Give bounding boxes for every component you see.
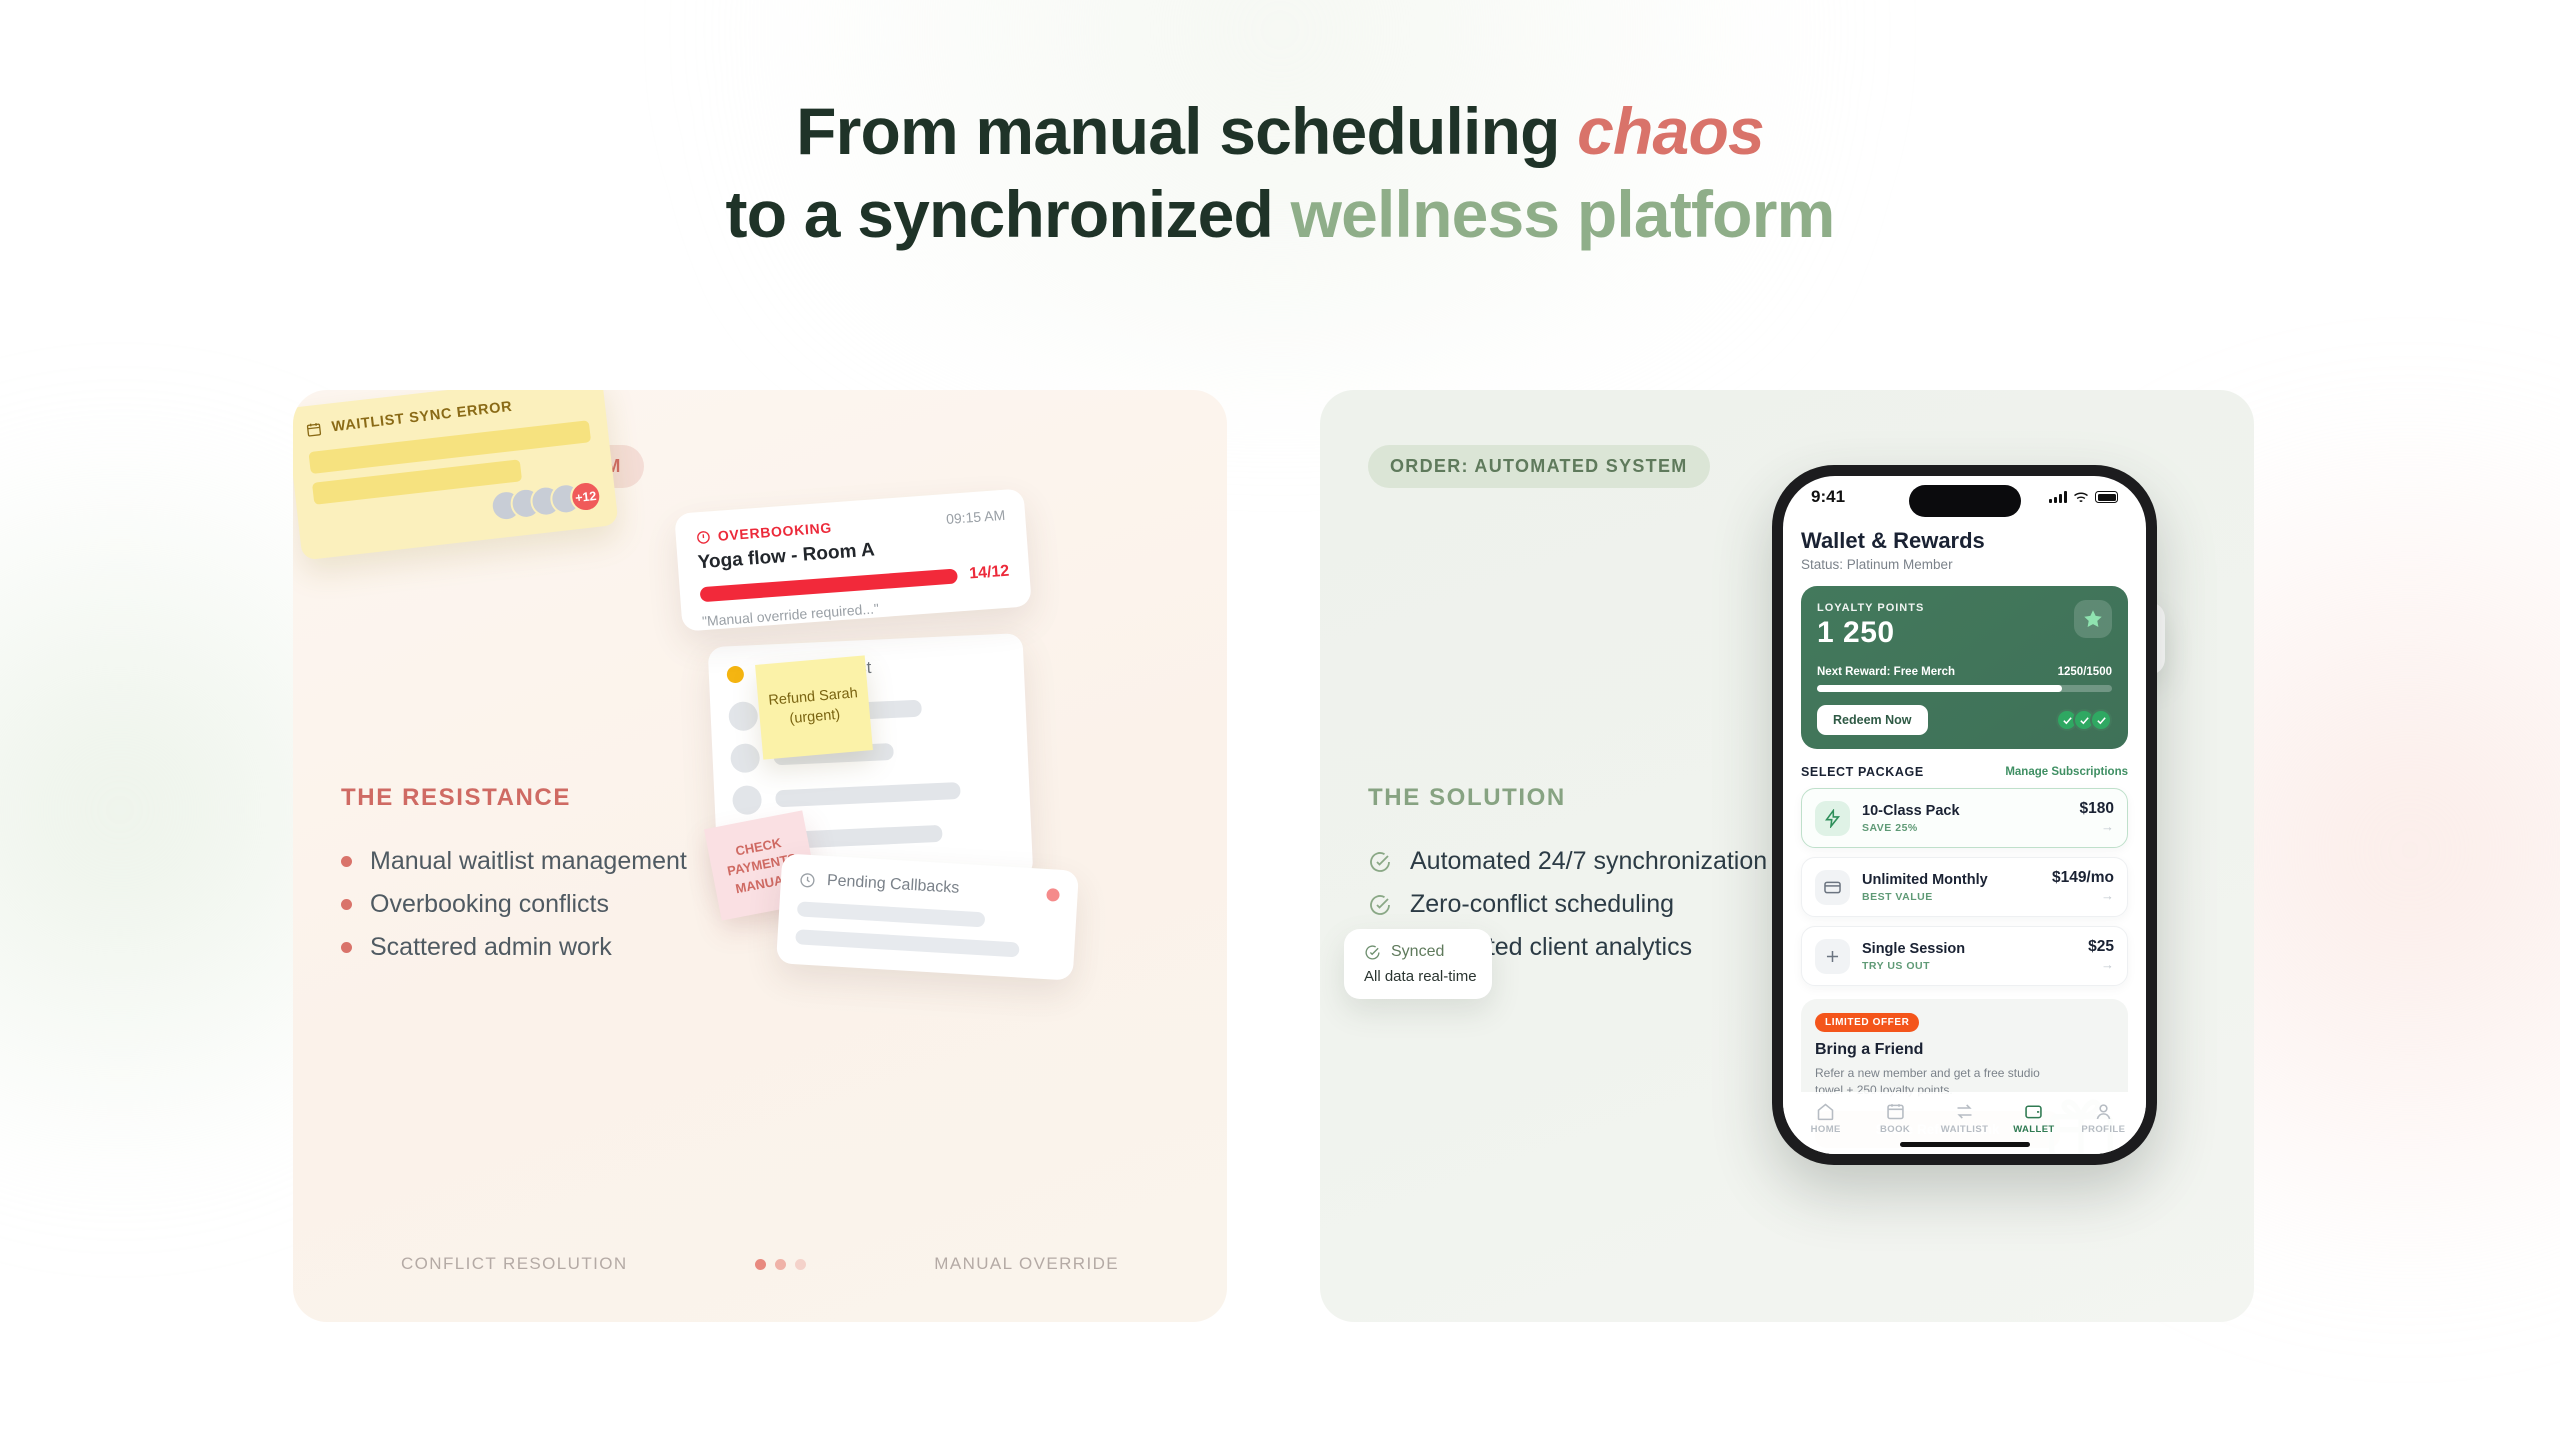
tab-label: HOME: [1791, 1124, 1860, 1135]
headline-line1-prefix: From manual scheduling: [796, 94, 1577, 168]
package-name: Single Session: [1862, 941, 1965, 957]
dot-icon: [755, 1259, 766, 1270]
pending-callbacks-header: Pending Callbacks: [798, 870, 1060, 903]
package-price-group: $149/mo →: [2052, 869, 2114, 905]
avatar-stack: +12: [500, 479, 603, 521]
pending-callbacks-title-group: Pending Callbacks: [798, 870, 959, 897]
chaos-panel: CHAOS: MANUAL SYSTEM Manual Waitlist WAI…: [293, 390, 1227, 1322]
waitlist-sync-error-card: WAITLIST SYNC ERROR +12: [293, 390, 619, 561]
list-item-label: Scattered admin work: [370, 933, 612, 962]
phone-screen: 9:41 Wallet & Rewards Status: Platinum M…: [1783, 476, 2146, 1154]
package-option-10-class-pack[interactable]: 10-Class Pack SAVE 25% $180 →: [1801, 788, 2128, 848]
check-circle-icon: [1368, 893, 1392, 917]
tab-book[interactable]: BOOK: [1860, 1101, 1929, 1135]
order-panel: ORDER: AUTOMATED SYSTEM THE SOLUTION Aut…: [1320, 390, 2254, 1322]
check-circle-icon: [1368, 850, 1392, 874]
placeholder-line: [797, 901, 985, 927]
synced-toast: Synced All data real-time: [1344, 929, 1492, 999]
reward-checks: [2061, 709, 2112, 731]
overbooking-time: 09:15 AM: [946, 507, 1006, 527]
pending-callbacks-card: Pending Callbacks: [776, 853, 1079, 980]
plus-icon: [1815, 939, 1850, 974]
placeholder-line: [775, 782, 961, 807]
star-badge-icon: [2074, 600, 2112, 638]
synced-title: Synced: [1391, 943, 1444, 961]
headline-accent-wellness: wellness platform: [1291, 177, 1835, 251]
footer-label-right: MANUAL OVERRIDE: [934, 1254, 1119, 1274]
select-package-header: SELECT PACKAGE Manage Subscriptions: [1801, 765, 2128, 779]
tab-home[interactable]: HOME: [1791, 1101, 1860, 1135]
person-icon: [2093, 1101, 2114, 1122]
next-reward-row: Next Reward: Free Merch 1250/1500: [1817, 666, 2112, 678]
loyalty-progress-text: 1250/1500: [2058, 666, 2112, 678]
list-item-label: Manual waitlist management: [370, 847, 687, 876]
wifi-icon: [2073, 491, 2089, 504]
order-panel-badge: ORDER: AUTOMATED SYSTEM: [1368, 445, 1710, 488]
card-icon: [1815, 870, 1850, 905]
status-bar-time: 9:41: [1811, 487, 1845, 507]
package-tag: SAVE 25%: [1862, 822, 2068, 834]
tab-waitlist[interactable]: WAITLIST: [1930, 1101, 1999, 1135]
arrow-right-icon: →: [2101, 819, 2114, 834]
star-icon: [2082, 608, 2104, 630]
bullet-dot-icon: [341, 899, 352, 910]
home-icon: [1815, 1101, 1836, 1122]
avatar: [732, 785, 762, 815]
check-icon: [2090, 709, 2112, 731]
select-package-title: SELECT PACKAGE: [1801, 765, 1924, 779]
loyalty-points-card: LOYALTY POINTS 1 250 Next Reward: Free M…: [1801, 586, 2128, 749]
phone-status-bar: 9:41: [1783, 476, 2146, 518]
synced-body: All data real-time: [1364, 968, 1472, 985]
tab-label: PROFILE: [2069, 1124, 2138, 1135]
dot-icon: [795, 1259, 806, 1270]
bullet-dot-icon: [341, 942, 352, 953]
offer-title: Bring a Friend: [1815, 1041, 2114, 1059]
footer-label-left: CONFLICT RESOLUTION: [401, 1254, 628, 1274]
page-title: Wallet & Rewards: [1801, 528, 2128, 554]
loyalty-points-value: 1 250: [1817, 616, 2112, 650]
page-headline: From manual scheduling chaos to a synchr…: [0, 96, 2560, 251]
overbooking-tag: OVERBOOKING: [695, 519, 832, 545]
package-tag: BEST VALUE: [1862, 891, 2040, 903]
list-item-label: Zero-conflict scheduling: [1410, 890, 1674, 919]
synced-title-group: Synced: [1364, 943, 1472, 961]
list-item-label: Automated 24/7 synchronization: [1410, 847, 1767, 876]
home-indicator: [1900, 1142, 2030, 1147]
alert-dot: [1046, 888, 1060, 902]
package-price-group: $25 →: [2088, 938, 2114, 974]
resistance-list: Manual waitlist management Overbooking c…: [341, 840, 771, 969]
clock-icon: [799, 871, 817, 889]
list-item: Zero-conflict scheduling: [1368, 883, 1798, 926]
package-price: $180: [2080, 800, 2114, 818]
status-bar-indicators: [2049, 491, 2118, 504]
loyalty-progress-track: [1817, 685, 2112, 692]
tab-profile[interactable]: PROFILE: [2069, 1101, 2138, 1135]
dynamic-island: [1909, 485, 2021, 517]
package-option-single-session[interactable]: Single Session TRY US OUT $25 →: [1801, 926, 2128, 986]
tab-label: WALLET: [1999, 1124, 2068, 1135]
package-name: 10-Class Pack: [1862, 803, 1960, 819]
package-name: Unlimited Monthly: [1862, 872, 1988, 888]
loyalty-label: LOYALTY POINTS: [1817, 602, 2112, 614]
loyalty-card-footer: Redeem Now: [1817, 705, 2112, 735]
sticky-note-refund: Refund Sarah (urgent): [755, 655, 873, 759]
bolt-icon: [1815, 801, 1850, 836]
member-status: Status: Platinum Member: [1801, 557, 2128, 572]
wallet-icon: [2023, 1101, 2044, 1122]
tab-label: WAITLIST: [1930, 1124, 1999, 1135]
redeem-now-button[interactable]: Redeem Now: [1817, 705, 1928, 735]
list-item: Scattered admin work: [341, 926, 771, 969]
tab-wallet[interactable]: WALLET: [1999, 1101, 2068, 1135]
sync-error-title: WAITLIST SYNC ERROR: [331, 399, 513, 435]
loyalty-progress-fill: [1817, 685, 2062, 692]
amber-status-dot: [726, 665, 744, 683]
package-price: $25: [2088, 938, 2114, 956]
package-info: Single Session TRY US OUT: [1862, 940, 2076, 972]
bullet-dot-icon: [341, 856, 352, 867]
overbooking-card: OVERBOOKING 09:15 AM Yoga flow - Room A …: [674, 488, 1032, 631]
package-tag: TRY US OUT: [1862, 960, 2076, 972]
check-circle-icon: [1364, 944, 1381, 961]
pending-callbacks-title: Pending Callbacks: [826, 872, 959, 898]
manage-subscriptions-link[interactable]: Manage Subscriptions: [2005, 766, 2128, 778]
pagination-dots[interactable]: [755, 1259, 806, 1270]
list-item-label: Overbooking conflicts: [370, 890, 609, 919]
alert-circle-icon: [695, 529, 711, 545]
solution-title: THE SOLUTION: [1368, 784, 1566, 812]
package-price: $149/mo: [2052, 869, 2114, 887]
overbooking-tag-label: OVERBOOKING: [717, 519, 832, 543]
overbooking-count: 14/12: [969, 563, 1010, 584]
package-option-unlimited-monthly[interactable]: Unlimited Monthly BEST VALUE $149/mo →: [1801, 857, 2128, 917]
headline-accent-chaos: chaos: [1577, 94, 1764, 168]
list-item: Overbooking conflicts: [341, 883, 771, 926]
arrow-right-icon: →: [2101, 957, 2114, 972]
placeholder-line: [795, 929, 1020, 957]
resistance-title: THE RESISTANCE: [341, 784, 571, 812]
headline-line2-prefix: to a synchronized: [726, 177, 1291, 251]
list-item: Manual waitlist management: [341, 840, 771, 883]
package-info: 10-Class Pack SAVE 25%: [1862, 802, 2068, 834]
calendar-icon: [305, 421, 323, 439]
avatar: [728, 701, 758, 731]
tab-label: BOOK: [1860, 1124, 1929, 1135]
phone-mockup: 9:41 Wallet & Rewards Status: Platinum M…: [1772, 465, 2157, 1165]
list-item: [732, 774, 1012, 816]
avatar: [730, 743, 760, 773]
list-item: Automated 24/7 synchronization: [1368, 840, 1798, 883]
calendar-icon: [1885, 1101, 1906, 1122]
package-info: Unlimited Monthly BEST VALUE: [1862, 871, 2040, 903]
chaos-panel-footer: CONFLICT RESOLUTION MANUAL OVERRIDE: [293, 1254, 1227, 1274]
package-price-group: $180 →: [2080, 800, 2114, 836]
arrow-right-icon: →: [2101, 888, 2114, 903]
battery-icon: [2095, 491, 2118, 503]
swap-icon: [1954, 1101, 1975, 1122]
next-reward-label: Next Reward: Free Merch: [1817, 666, 1955, 678]
wallet-app-content: Wallet & Rewards Status: Platinum Member…: [1783, 518, 2146, 1154]
dot-icon: [775, 1259, 786, 1270]
cellular-signal-icon: [2049, 491, 2067, 503]
status-badge: LIMITED OFFER: [1815, 1013, 1919, 1032]
